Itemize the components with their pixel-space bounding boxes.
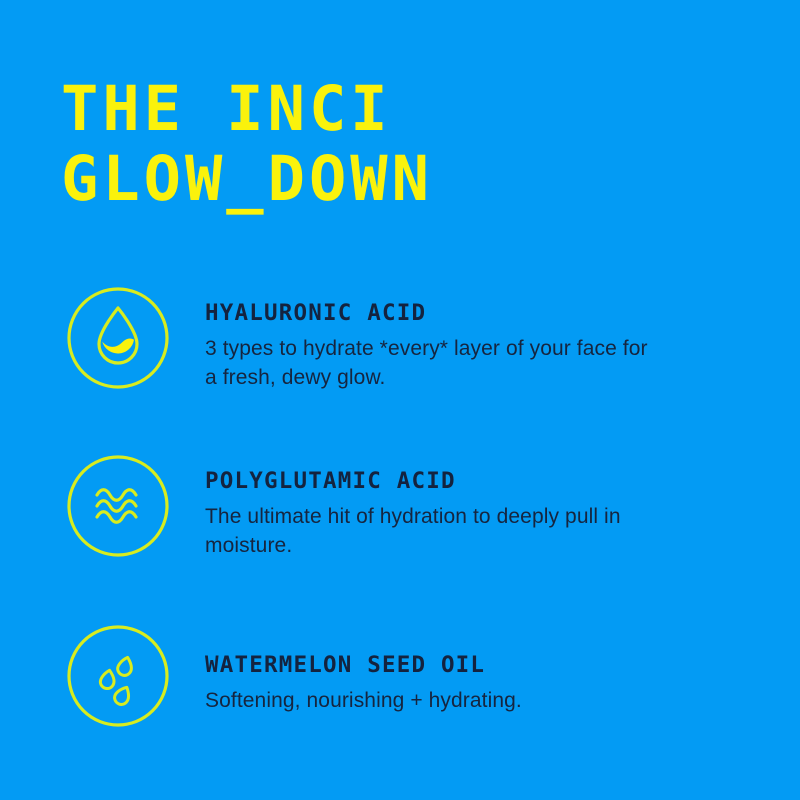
- ingredient-text-block: POLYGLUTAMIC ACID The ultimate hit of hy…: [205, 468, 765, 560]
- infographic-canvas: THE INCI GLOW_DOWN HYALURONIC ACID 3 typ…: [0, 0, 800, 800]
- seeds-icon: [66, 624, 170, 728]
- ingredient-description: The ultimate hit of hydration to deeply …: [205, 502, 655, 560]
- water-waves-icon: [66, 454, 170, 558]
- ingredient-name: WATERMELON SEED OIL: [205, 652, 765, 678]
- ingredient-description: 3 types to hydrate *every* layer of your…: [205, 334, 655, 392]
- water-droplet-icon: [66, 286, 170, 390]
- ingredient-text-block: WATERMELON SEED OIL Softening, nourishin…: [205, 652, 765, 715]
- page-title: THE INCI GLOW_DOWN: [61, 74, 741, 214]
- ingredient-text-block: HYALURONIC ACID 3 types to hydrate *ever…: [205, 300, 765, 392]
- list-item: WATERMELON SEED OIL Softening, nourishin…: [0, 624, 800, 744]
- list-item: HYALURONIC ACID 3 types to hydrate *ever…: [0, 286, 800, 406]
- title-line-1: THE INCI: [61, 74, 741, 144]
- ingredient-description: Softening, nourishing + hydrating.: [205, 686, 725, 715]
- title-line-2: GLOW_DOWN: [61, 144, 741, 214]
- ingredient-name: HYALURONIC ACID: [205, 300, 765, 326]
- list-item: POLYGLUTAMIC ACID The ultimate hit of hy…: [0, 454, 800, 574]
- ingredient-name: POLYGLUTAMIC ACID: [205, 468, 765, 494]
